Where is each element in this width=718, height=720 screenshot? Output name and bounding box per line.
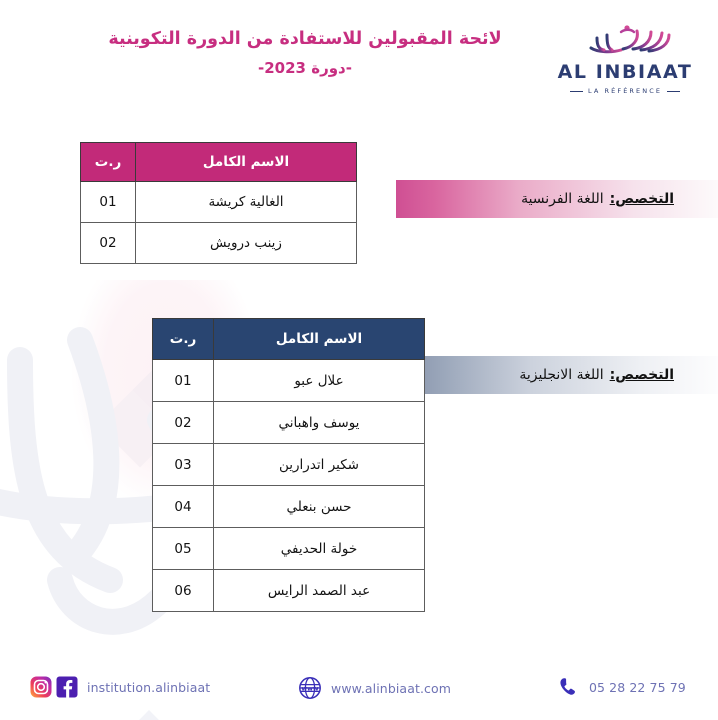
table-row: حسن بنعلي 04 — [153, 486, 425, 528]
document-header: لائحة المقبولين للاستفادة من الدورة التك… — [0, 0, 718, 120]
globe-www-icon[interactable]: www — [298, 676, 322, 700]
roster-table-french: الاسم الكامل ر.ت الغالية كريشة 01 زينب د… — [80, 142, 357, 264]
table-row: يوسف واهباني 02 — [153, 402, 425, 444]
specialization-value-french: اللغة الفرنسية — [521, 191, 604, 207]
footer-website-text: www.alinbiaat.com — [331, 681, 451, 696]
table-row: زينب درويش 02 — [81, 223, 357, 264]
table-row: الغالية كريشة 01 — [81, 182, 357, 223]
brand-logo: AL INBIAAT LA RÉFÉRENCE — [550, 22, 700, 95]
cell-name: خولة الحديفي — [214, 528, 425, 570]
cell-name: يوسف واهباني — [214, 402, 425, 444]
cell-num: 01 — [153, 360, 214, 402]
cell-num: 02 — [81, 223, 136, 264]
arabic-calligraphy-logo-icon — [577, 22, 673, 60]
cell-num: 02 — [153, 402, 214, 444]
footer-social: institution.alinbiaat — [30, 676, 210, 698]
logo-tagline-wrap: LA RÉFÉRENCE — [550, 87, 700, 95]
title-block: لائحة المقبولين للاستفادة من الدورة التك… — [60, 28, 550, 77]
phone-icon[interactable] — [558, 676, 580, 698]
cell-name: شكير اتدرارين — [214, 444, 425, 486]
table-row: خولة الحديفي 05 — [153, 528, 425, 570]
table-header-row-english: الاسم الكامل ر.ت — [153, 319, 425, 360]
page-title: لائحة المقبولين للاستفادة من الدورة التك… — [60, 28, 550, 52]
specialization-label-french: التخصص: — [610, 191, 674, 207]
roster-table-english: الاسم الكامل ر.ت علال عبو 01 يوسف واهبان… — [152, 318, 425, 612]
svg-text:www: www — [301, 686, 318, 693]
cell-num: 06 — [153, 570, 214, 612]
social-icon-group — [30, 676, 78, 698]
table-row: شكير اتدرارين 03 — [153, 444, 425, 486]
column-header-name-english: الاسم الكامل — [214, 319, 425, 360]
cell-name: الغالية كريشة — [136, 182, 357, 223]
document-footer: institution.alinbiaat www www.alinbiaat.… — [0, 662, 718, 720]
specialization-band-english: التخصص:اللغة الانجليزية — [396, 356, 718, 394]
logo-rule-left — [570, 91, 583, 92]
cell-num: 04 — [153, 486, 214, 528]
cell-num: 01 — [81, 182, 136, 223]
table-header-row-french: الاسم الكامل ر.ت — [81, 143, 357, 182]
logo-name: AL INBIAAT — [550, 63, 700, 82]
cell-name: حسن بنعلي — [214, 486, 425, 528]
footer-social-text: institution.alinbiaat — [87, 680, 210, 695]
column-header-name-french: الاسم الكامل — [136, 143, 357, 182]
footer-phone: 05 28 22 75 79 — [558, 676, 686, 698]
logo-rule-right — [667, 91, 680, 92]
specialization-text-french: التخصص:اللغة الفرنسية — [521, 191, 674, 207]
logo-tagline: LA RÉFÉRENCE — [588, 87, 662, 95]
page-subtitle: -دورة 2023- — [60, 59, 550, 77]
column-header-num-french: ر.ت — [81, 143, 136, 182]
cell-num: 05 — [153, 528, 214, 570]
cell-name: زينب درويش — [136, 223, 357, 264]
cell-num: 03 — [153, 444, 214, 486]
instagram-icon[interactable] — [30, 676, 52, 698]
specialization-text-english: التخصص:اللغة الانجليزية — [519, 367, 674, 383]
column-header-num-english: ر.ت — [153, 319, 214, 360]
specialization-value-english: اللغة الانجليزية — [519, 367, 603, 383]
document-page: لائحة المقبولين للاستفادة من الدورة التك… — [0, 0, 718, 720]
specialization-band-french: التخصص:اللغة الفرنسية — [396, 180, 718, 218]
cell-name: عبد الصمد الرايس — [214, 570, 425, 612]
cell-name: علال عبو — [214, 360, 425, 402]
table-row: عبد الصمد الرايس 06 — [153, 570, 425, 612]
footer-phone-text: 05 28 22 75 79 — [589, 680, 686, 695]
footer-website: www www.alinbiaat.com — [298, 676, 451, 700]
specialization-label-english: التخصص: — [610, 367, 674, 383]
facebook-icon[interactable] — [56, 676, 78, 698]
table-row: علال عبو 01 — [153, 360, 425, 402]
